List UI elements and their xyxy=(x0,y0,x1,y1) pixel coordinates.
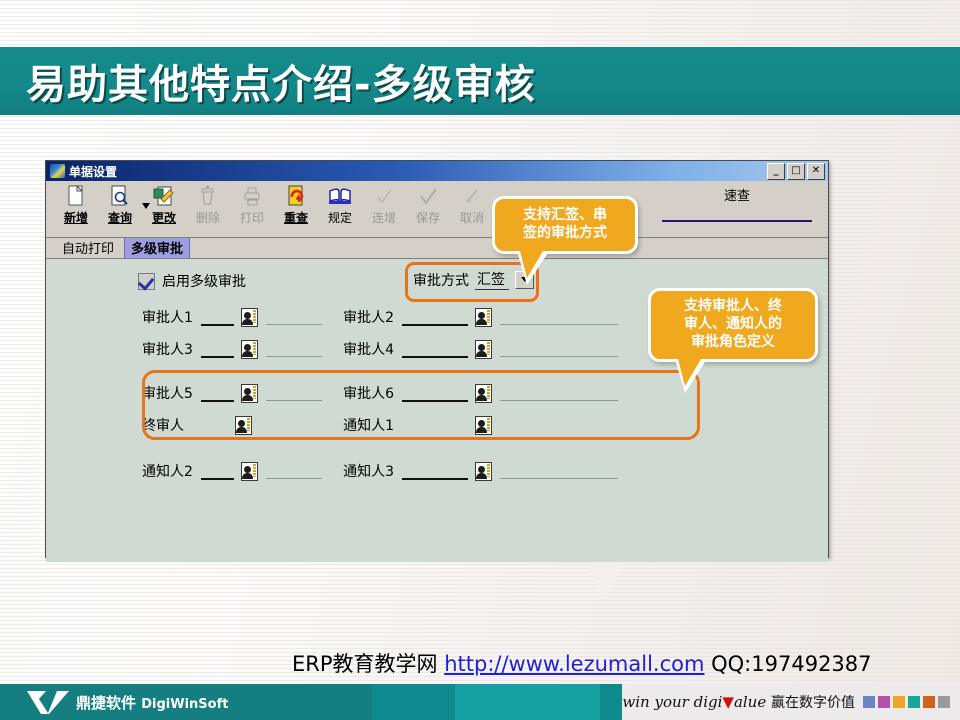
color-square xyxy=(908,696,920,708)
toolbar-label: 连增 xyxy=(372,209,396,226)
field-approver-5: 审批人5 xyxy=(46,383,322,403)
code-input[interactable] xyxy=(201,463,234,480)
table-row: 终审人 通知人1 xyxy=(46,415,828,447)
tab-multilevel-approval[interactable]: 多级审批 xyxy=(124,236,190,258)
callout-approval-roles: 支持审批人、终 审人、通知人的 审批角色定义 xyxy=(648,288,818,362)
toolbar-button-cancel[interactable]: 取消 xyxy=(450,184,494,226)
cancel-slash-icon xyxy=(462,184,482,208)
name-input[interactable] xyxy=(266,309,322,325)
printer-icon xyxy=(241,184,263,208)
toolbar-button-continue-add[interactable]: 连增 xyxy=(362,184,406,226)
window-title: 单据设置 xyxy=(69,163,767,180)
person-lookup-icon[interactable] xyxy=(235,416,252,435)
quick-search-input[interactable] xyxy=(662,220,812,222)
table-row: 通知人2 通知人3 xyxy=(46,461,828,493)
toolbar-label: 取消 xyxy=(460,209,484,226)
toolbar-button-requery[interactable]: 重查 xyxy=(274,184,318,226)
callout-line: 审批角色定义 xyxy=(657,334,809,352)
quick-search: 速查 xyxy=(662,185,812,222)
app-logo-icon xyxy=(50,164,65,178)
field-final-approver: 终审人 xyxy=(46,415,322,435)
toolbar-label: 打印 xyxy=(240,209,264,226)
slide-title-band: 易助其他特点介绍-多级审核 xyxy=(0,47,960,115)
checkbox-icon[interactable] xyxy=(138,273,155,290)
tab-strip: 自动打印 多级审批 xyxy=(46,238,828,259)
approval-method-value[interactable]: 汇签 xyxy=(475,269,509,290)
brand-name: 鼎捷软件 DigiWinSoft xyxy=(76,692,228,713)
code-input[interactable] xyxy=(402,417,468,434)
bottom-bar-right: win your digi▼alue 赢在数字价值 xyxy=(622,684,960,720)
code-input[interactable] xyxy=(201,385,234,402)
toolbar-button-print[interactable]: 打印 xyxy=(230,184,274,226)
toolbar-label: 规定 xyxy=(328,209,352,226)
approval-method-label: 审批方式 xyxy=(413,270,469,290)
refresh-document-icon xyxy=(286,184,306,208)
bottom-bar-left: 鼎捷软件 DigiWinSoft xyxy=(0,684,622,720)
callout-tail-fill xyxy=(520,251,543,278)
tab-auto-print[interactable]: 自动打印 xyxy=(56,237,120,258)
enable-multilevel-approval-checkbox[interactable]: 启用多级审批 xyxy=(138,271,246,291)
color-square xyxy=(938,696,950,708)
field-approver-2: 审批人2 xyxy=(322,307,622,327)
window-title-bar: 单据设置 _ □ ✕ xyxy=(46,161,828,181)
window-controls: _ □ ✕ xyxy=(767,163,826,180)
page-title: 易助其他特点介绍-多级审核 xyxy=(26,52,536,110)
field-approver-6: 审批人6 xyxy=(322,383,622,403)
chevron-down-icon[interactable] xyxy=(142,203,150,209)
name-input[interactable] xyxy=(500,309,618,325)
person-lookup-icon[interactable] xyxy=(241,308,258,327)
toolbar-label: 重查 xyxy=(284,209,308,226)
new-document-icon xyxy=(66,184,86,208)
person-lookup-icon[interactable] xyxy=(241,462,258,481)
callout-line: 签的审批方式 xyxy=(501,225,629,243)
toolbar: 新增 查询 更改 删除 打印 xyxy=(46,181,828,238)
field-label: 审批人2 xyxy=(336,307,394,327)
color-square xyxy=(923,696,935,708)
callout-approval-methods: 支持汇签、串 签的审批方式 xyxy=(492,196,638,254)
toolbar-label: 查询 xyxy=(108,209,132,226)
field-label: 通知人1 xyxy=(336,415,394,435)
code-input[interactable] xyxy=(402,385,468,402)
field-label: 审批人1 xyxy=(142,307,193,327)
field-label: 审批人4 xyxy=(336,339,394,359)
code-input[interactable] xyxy=(201,341,234,358)
toolbar-label: 新增 xyxy=(64,209,88,226)
toolbar-button-save[interactable]: 保存 xyxy=(406,184,450,226)
brand-name-en: DigiWinSoft xyxy=(141,697,228,712)
person-lookup-icon[interactable] xyxy=(241,340,258,359)
name-input[interactable] xyxy=(500,417,618,433)
callout-line: 支持汇签、串 xyxy=(501,207,629,225)
name-input[interactable] xyxy=(500,341,618,357)
edit-document-icon xyxy=(153,184,175,208)
name-input[interactable] xyxy=(266,385,322,401)
color-squares xyxy=(863,696,950,708)
callout-tail-fill xyxy=(678,359,701,386)
person-lookup-icon[interactable] xyxy=(475,308,492,327)
toolbar-label: 保存 xyxy=(416,209,440,226)
code-input[interactable] xyxy=(402,309,468,326)
quick-search-label: 速查 xyxy=(662,185,812,204)
digiwin-logo-icon xyxy=(26,689,70,715)
code-input[interactable] xyxy=(192,417,228,434)
checkbox-label: 启用多级审批 xyxy=(162,271,246,291)
footer-qq: QQ:197492387 xyxy=(711,652,871,676)
person-lookup-icon[interactable] xyxy=(475,384,492,403)
field-label: 审批人5 xyxy=(142,383,193,403)
book-icon xyxy=(328,184,352,208)
minimize-icon[interactable]: _ xyxy=(767,163,785,180)
person-lookup-icon[interactable] xyxy=(475,340,492,359)
name-input[interactable] xyxy=(500,463,618,479)
close-icon[interactable]: ✕ xyxy=(807,163,825,180)
toolbar-label: 删除 xyxy=(196,209,220,226)
callout-line: 审人、通知人的 xyxy=(657,316,809,334)
bottom-bar: 鼎捷软件 DigiWinSoft win your digi▼alue 赢在数字… xyxy=(0,684,960,720)
name-input[interactable] xyxy=(500,385,618,401)
field-label: 审批人6 xyxy=(336,383,394,403)
footer-credit: ERP教育教学网 http://www.lezumall.com QQ:1974… xyxy=(292,648,872,678)
toolbar-button-delete[interactable]: 删除 xyxy=(186,184,230,226)
field-approver-1: 审批人1 xyxy=(46,307,322,327)
brand-name-cn: 鼎捷软件 xyxy=(76,694,136,712)
check-small-icon xyxy=(374,184,394,208)
field-notifier-3: 通知人3 xyxy=(322,461,622,481)
approval-method-row: 审批方式 汇签 xyxy=(413,269,534,290)
field-approver-4: 审批人4 xyxy=(322,339,622,359)
field-label: 审批人3 xyxy=(142,339,193,359)
footer-url-link[interactable]: http://www.lezumall.com xyxy=(444,652,704,676)
name-input[interactable] xyxy=(266,463,322,479)
person-lookup-icon[interactable] xyxy=(241,384,258,403)
trash-icon xyxy=(198,184,218,208)
maximize-icon[interactable]: □ xyxy=(787,163,805,180)
tagline: win your digi▼alue 赢在数字价值 xyxy=(622,692,855,712)
code-input[interactable] xyxy=(201,309,234,326)
tagline-cn: 赢在数字价值 xyxy=(771,695,855,711)
color-square xyxy=(893,696,905,708)
toolbar-button-new[interactable]: 新增 xyxy=(54,184,98,226)
search-document-icon xyxy=(110,184,130,208)
field-notifier-1: 通知人1 xyxy=(322,415,622,435)
tagline-en-1: win your digi xyxy=(622,693,722,711)
color-square xyxy=(878,696,890,708)
field-label: 通知人3 xyxy=(336,461,394,481)
toolbar-button-rules[interactable]: 规定 xyxy=(318,184,362,226)
name-input[interactable] xyxy=(266,341,322,357)
name-input[interactable] xyxy=(260,417,322,433)
table-row: 审批人5 审批人6 xyxy=(46,383,828,415)
footer-site-label: ERP教育教学网 xyxy=(292,652,438,676)
code-input[interactable] xyxy=(402,341,468,358)
field-label: 终审人 xyxy=(142,415,184,435)
color-square xyxy=(863,696,875,708)
person-lookup-icon[interactable] xyxy=(475,462,492,481)
toolbar-label: 更改 xyxy=(152,209,176,226)
check-icon xyxy=(418,184,438,208)
callout-line: 支持审批人、终 xyxy=(657,298,809,316)
toolbar-button-query[interactable]: 查询 xyxy=(98,184,142,226)
person-lookup-icon[interactable] xyxy=(475,416,492,435)
field-notifier-2: 通知人2 xyxy=(46,461,322,481)
tagline-en-2: alue xyxy=(734,693,766,711)
triangle-icon: ▼ xyxy=(722,693,734,711)
code-input[interactable] xyxy=(402,463,468,480)
field-label: 通知人2 xyxy=(142,461,193,481)
field-approver-3: 审批人3 xyxy=(46,339,322,359)
